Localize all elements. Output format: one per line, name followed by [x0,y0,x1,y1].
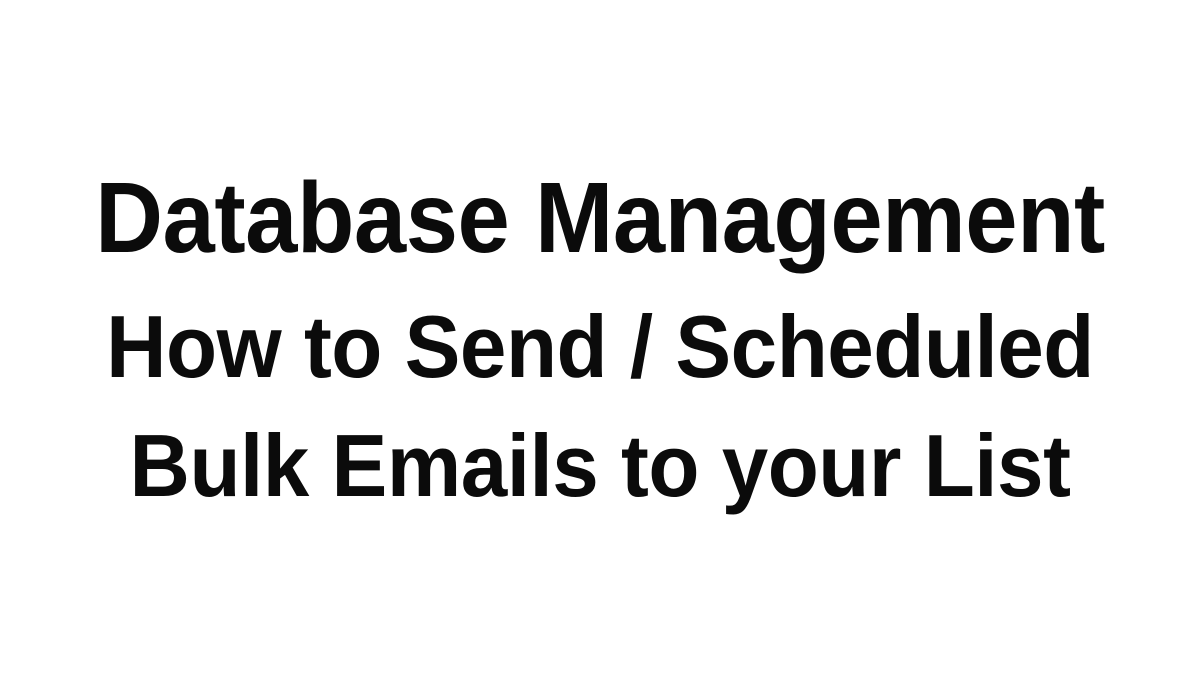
headline-line-1: Database Management [36,168,1164,268]
headline-line-3: Bulk Emails to your List [30,422,1170,510]
title-card-canvas: Database Management How to Send / Schedu… [0,0,1200,675]
headline-line-2: How to Send / Scheduled [30,303,1170,391]
